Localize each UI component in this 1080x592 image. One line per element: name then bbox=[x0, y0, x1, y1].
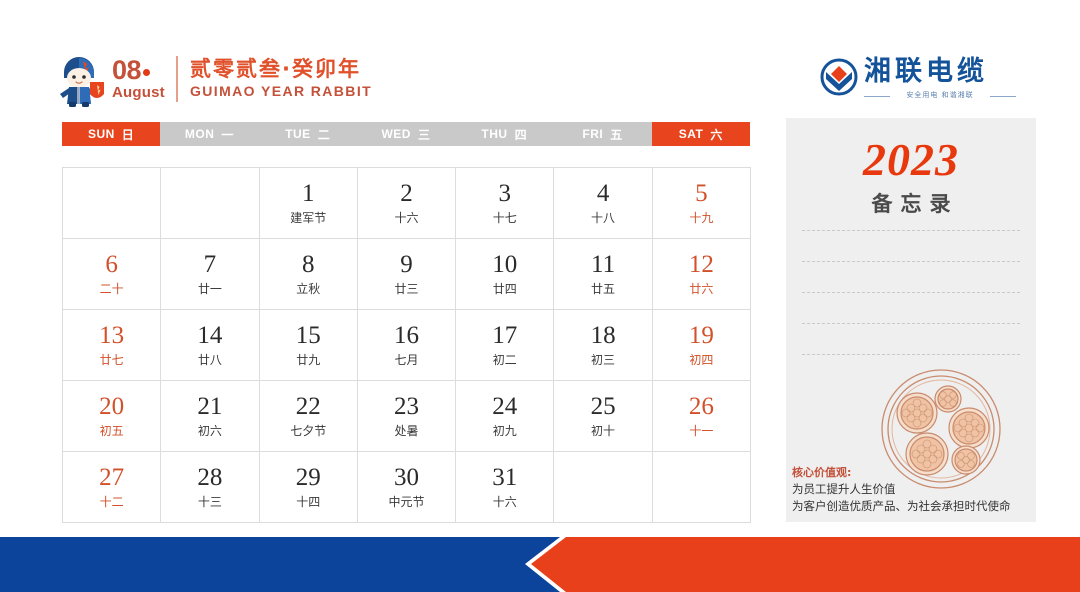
day-header-en: SUN bbox=[88, 127, 115, 141]
day-lunar-label: 廿九 bbox=[296, 351, 320, 369]
page-header: 08 August 贰零贰叁·癸卯年 GUIMAO YEAR RABBIT 湘联… bbox=[0, 0, 1080, 118]
day-number: 15 bbox=[296, 322, 321, 350]
day-number: 29 bbox=[296, 464, 321, 492]
core-values-title: 核心价值观: bbox=[792, 464, 1036, 481]
day-lunar-label: 初六 bbox=[198, 422, 222, 440]
calendar-day-cell[interactable]: 3十七 bbox=[456, 168, 554, 239]
day-lunar-label: 中元节 bbox=[388, 493, 424, 511]
calendar-day-cell[interactable]: 5十九 bbox=[653, 168, 751, 239]
calendar-day-cell[interactable]: 4十八 bbox=[554, 168, 652, 239]
year-block: 贰零贰叁·癸卯年 GUIMAO YEAR RABBIT bbox=[190, 56, 372, 100]
calendar-day-cell[interactable]: 20初五 bbox=[63, 381, 161, 452]
calendar-day-cell[interactable]: 18初三 bbox=[554, 310, 652, 381]
day-number: 1 bbox=[302, 180, 315, 208]
day-header-cn: 四 bbox=[515, 126, 528, 143]
calendar-day-cell[interactable]: 9廿三 bbox=[358, 239, 456, 310]
day-header-cn: 一 bbox=[221, 126, 234, 143]
calendar-day-cell[interactable]: 27十二 bbox=[63, 452, 161, 523]
calendar-day-cell[interactable]: 31十六 bbox=[456, 452, 554, 523]
day-header-en: SAT bbox=[679, 127, 704, 141]
day-header-en: WED bbox=[381, 127, 411, 141]
calendar-day-cell[interactable]: 2十六 bbox=[358, 168, 456, 239]
footer-bar bbox=[0, 537, 1080, 592]
mascot-character-icon bbox=[54, 52, 106, 108]
day-lunar-label: 七夕节 bbox=[290, 422, 326, 440]
day-lunar-label: 十一 bbox=[689, 422, 713, 440]
day-lunar-label: 廿八 bbox=[198, 351, 222, 369]
calendar-day-cell[interactable]: 30中元节 bbox=[358, 452, 456, 523]
calendar-day-cell[interactable]: 14廿八 bbox=[161, 310, 259, 381]
day-number: 14 bbox=[197, 322, 222, 350]
day-number: 20 bbox=[99, 393, 124, 421]
day-number: 24 bbox=[492, 393, 517, 421]
day-lunar-label: 十三 bbox=[198, 493, 222, 511]
day-lunar-label: 初四 bbox=[689, 351, 713, 369]
day-lunar-label: 廿五 bbox=[591, 280, 615, 298]
day-lunar-label: 十八 bbox=[591, 209, 615, 227]
calendar-day-cell[interactable]: 29十四 bbox=[260, 452, 358, 523]
day-header-en: TUE bbox=[285, 127, 311, 141]
day-lunar-label: 廿一 bbox=[198, 280, 222, 298]
calendar-day-cell[interactable]: 16七月 bbox=[358, 310, 456, 381]
day-lunar-label: 二十 bbox=[100, 280, 124, 298]
company-logo: 湘联电缆 安全用电 和谐湘联 bbox=[820, 56, 1020, 106]
day-header-thu: THU四 bbox=[455, 122, 553, 146]
day-lunar-label: 十六 bbox=[394, 209, 418, 227]
day-header-tue: TUE二 bbox=[259, 122, 357, 146]
day-number: 18 bbox=[591, 322, 616, 350]
day-lunar-label: 十四 bbox=[296, 493, 320, 511]
day-number: 26 bbox=[689, 393, 714, 421]
day-number: 30 bbox=[394, 464, 419, 492]
company-slogan: 安全用电 和谐湘联 bbox=[864, 90, 1016, 100]
day-lunar-label: 初五 bbox=[100, 422, 124, 440]
memo-title: 备忘录 bbox=[786, 188, 1036, 218]
day-number: 12 bbox=[689, 251, 714, 279]
calendar-day-cell[interactable]: 1建军节 bbox=[260, 168, 358, 239]
day-number: 23 bbox=[394, 393, 419, 421]
day-lunar-label: 廿四 bbox=[493, 280, 517, 298]
calendar-day-cell[interactable]: 19初四 bbox=[653, 310, 751, 381]
day-header-wed: WED三 bbox=[357, 122, 455, 146]
day-lunar-label: 七月 bbox=[394, 351, 418, 369]
day-number: 5 bbox=[695, 180, 708, 208]
calendar-cell-empty bbox=[63, 168, 161, 239]
day-lunar-label: 初九 bbox=[493, 422, 517, 440]
day-header-cn: 二 bbox=[318, 126, 331, 143]
day-lunar-label: 廿七 bbox=[100, 351, 124, 369]
memo-write-line[interactable] bbox=[802, 230, 1020, 231]
month-dot-icon bbox=[143, 69, 150, 76]
calendar-day-cell[interactable]: 15廿九 bbox=[260, 310, 358, 381]
day-header-fri: FRI五 bbox=[553, 122, 651, 146]
footer-blue-band bbox=[0, 537, 560, 592]
day-number: 2 bbox=[400, 180, 413, 208]
day-lunar-label: 十九 bbox=[689, 209, 713, 227]
core-values-line: 为员工提升人生价值 bbox=[792, 481, 1036, 498]
day-number: 27 bbox=[99, 464, 124, 492]
day-header-sat: SAT六 bbox=[652, 122, 750, 146]
day-lunar-label: 初十 bbox=[591, 422, 615, 440]
core-values-line: 为客户创造优质产品、为社会承担时代使命 bbox=[792, 498, 1036, 515]
memo-write-line[interactable] bbox=[802, 323, 1020, 324]
day-lunar-label: 十七 bbox=[493, 209, 517, 227]
day-number: 3 bbox=[499, 180, 512, 208]
company-name-cn: 湘联电缆 bbox=[864, 56, 988, 88]
memo-year-art: 2023 bbox=[786, 132, 1036, 188]
day-number: 16 bbox=[394, 322, 419, 350]
day-number: 4 bbox=[597, 180, 610, 208]
day-number: 10 bbox=[492, 251, 517, 279]
day-header-cn: 五 bbox=[610, 126, 623, 143]
day-number: 19 bbox=[689, 322, 714, 350]
calendar-day-cell[interactable]: 24初九 bbox=[456, 381, 554, 452]
day-number: 31 bbox=[492, 464, 517, 492]
day-header-en: MON bbox=[185, 127, 215, 141]
memo-write-line[interactable] bbox=[802, 354, 1020, 355]
calendar-grid: 1建军节2十六3十七4十八5十九6二十7廿一8立秋9廿三10廿四11廿五12廿六… bbox=[62, 167, 751, 523]
year-label-cn: 贰零贰叁·癸卯年 bbox=[190, 56, 372, 82]
day-number: 11 bbox=[591, 251, 615, 279]
calendar-cell-empty bbox=[653, 452, 751, 523]
day-lunar-label: 立秋 bbox=[296, 280, 320, 298]
day-lunar-label: 十二 bbox=[100, 493, 124, 511]
day-lunar-label: 初三 bbox=[591, 351, 615, 369]
day-header-cn: 三 bbox=[418, 126, 431, 143]
xianglian-shield-logo-icon bbox=[820, 58, 858, 96]
calendar-day-cell[interactable]: 28十三 bbox=[161, 452, 259, 523]
calendar-day-cell[interactable]: 11廿五 bbox=[554, 239, 652, 310]
calendar-day-cell[interactable]: 26十一 bbox=[653, 381, 751, 452]
day-header-en: FRI bbox=[582, 127, 603, 141]
calendar-day-cell[interactable]: 8立秋 bbox=[260, 239, 358, 310]
day-header-cn: 六 bbox=[710, 126, 723, 143]
day-lunar-label: 十六 bbox=[493, 493, 517, 511]
day-lunar-label: 廿六 bbox=[689, 280, 713, 298]
day-header-en: THU bbox=[481, 127, 507, 141]
day-number: 28 bbox=[197, 464, 222, 492]
day-header-cn: 日 bbox=[122, 126, 135, 143]
day-number: 7 bbox=[204, 251, 217, 279]
year-label-en: GUIMAO YEAR RABBIT bbox=[190, 82, 372, 100]
day-header-sun: SUN日 bbox=[62, 122, 160, 146]
calendar-day-cell[interactable]: 7廿一 bbox=[161, 239, 259, 310]
memo-write-line[interactable] bbox=[802, 261, 1020, 262]
day-number: 21 bbox=[197, 393, 222, 421]
day-header-mon: MON一 bbox=[160, 122, 258, 146]
core-values-block: 核心价值观: 为员工提升人生价值 为客户创造优质产品、为社会承担时代使命 bbox=[792, 464, 1036, 515]
day-lunar-label: 处暑 bbox=[394, 422, 418, 440]
calendar-day-cell[interactable]: 25初十 bbox=[554, 381, 652, 452]
calendar-day-cell[interactable]: 6二十 bbox=[63, 239, 161, 310]
month-number: 08 bbox=[112, 56, 141, 84]
day-number: 17 bbox=[492, 322, 517, 350]
memo-write-line[interactable] bbox=[802, 292, 1020, 293]
day-number: 6 bbox=[105, 251, 118, 279]
header-divider bbox=[176, 56, 178, 102]
month-block: 08 August bbox=[112, 56, 174, 106]
calendar-day-cell[interactable]: 10廿四 bbox=[456, 239, 554, 310]
calendar-cell-empty bbox=[161, 168, 259, 239]
calendar-day-cell[interactable]: 13廿七 bbox=[63, 310, 161, 381]
calendar-day-cell[interactable]: 22七夕节 bbox=[260, 381, 358, 452]
calendar-day-cell[interactable]: 23处暑 bbox=[358, 381, 456, 452]
day-lunar-label: 初二 bbox=[493, 351, 517, 369]
calendar-day-cell[interactable]: 17初二 bbox=[456, 310, 554, 381]
calendar-day-header-row: SUN日MON一TUE二WED三THU四FRI五SAT六 bbox=[62, 122, 750, 146]
day-number: 13 bbox=[99, 322, 124, 350]
day-lunar-label: 建军节 bbox=[290, 209, 326, 227]
month-name: August bbox=[112, 84, 174, 101]
day-number: 8 bbox=[302, 251, 315, 279]
day-number: 9 bbox=[400, 251, 413, 279]
calendar-cell-empty bbox=[554, 452, 652, 523]
calendar-day-cell[interactable]: 12廿六 bbox=[653, 239, 751, 310]
day-number: 25 bbox=[591, 393, 616, 421]
day-lunar-label: 廿三 bbox=[394, 280, 418, 298]
calendar-day-cell[interactable]: 21初六 bbox=[161, 381, 259, 452]
day-number: 22 bbox=[296, 393, 321, 421]
